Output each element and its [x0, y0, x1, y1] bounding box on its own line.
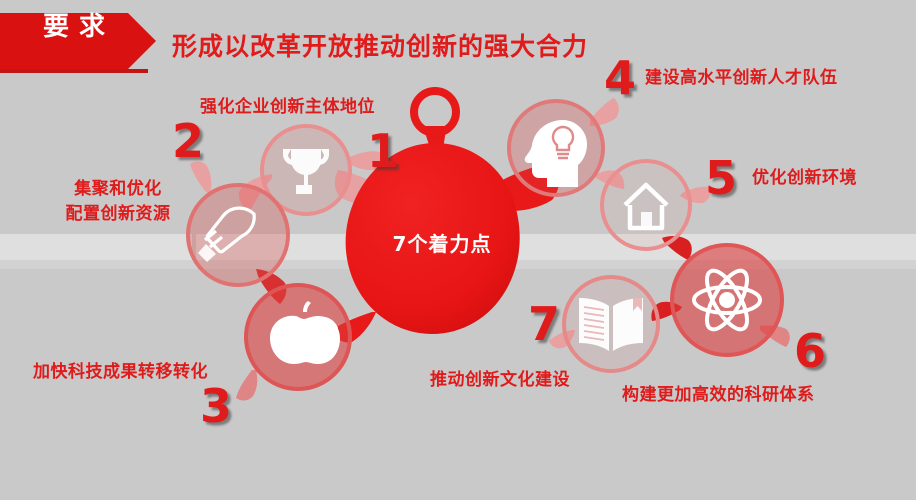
- node-label-5: 优化创新环境: [752, 166, 857, 191]
- node-bubble-6[interactable]: [672, 245, 782, 355]
- node-bubble-2[interactable]: [188, 185, 288, 285]
- node-number-5: 5: [705, 155, 737, 201]
- node-bubble-3[interactable]: [246, 285, 350, 389]
- node-label-4: 建设高水平创新人才队伍: [645, 66, 838, 91]
- node-label-1: 强化企业创新主体地位: [200, 95, 375, 120]
- node-number-2: 2: [172, 118, 204, 164]
- node-bubble-5[interactable]: [602, 161, 690, 249]
- node-label-6: 构建更加高效的科研体系: [622, 383, 815, 408]
- page-title: 形成以改革开放推动创新的强大合力: [172, 27, 588, 63]
- node-label-2-line1: 集聚和优化: [48, 177, 188, 202]
- node-label-3: 加快科技成果转移转化: [33, 360, 208, 385]
- infographic-canvas: 7个着力点 1 2 3 4 5 6 7 强化企业创新主体地位 集聚和优化 配置创…: [0, 0, 916, 500]
- node-label-2-line2: 配置创新资源: [48, 202, 188, 227]
- node-number-4: 4: [604, 55, 636, 101]
- node-number-6: 6: [794, 328, 826, 374]
- node-number-3: 3: [200, 383, 232, 429]
- header-badge-label: 要求: [24, 11, 124, 43]
- header-underline: [0, 69, 148, 73]
- node-number-1: 1: [367, 128, 399, 174]
- node-label-7: 推动创新文化建设: [430, 368, 570, 393]
- node-bubble-4[interactable]: [509, 101, 603, 195]
- house-door: [641, 212, 652, 228]
- center-label: 7个着力点: [352, 228, 532, 257]
- node-label-2: 集聚和优化 配置创新资源: [48, 177, 188, 227]
- atom-nucleus: [719, 292, 735, 308]
- node-bubble-7[interactable]: [564, 277, 658, 371]
- node-number-7: 7: [528, 301, 560, 347]
- connector-3-number: [236, 370, 257, 400]
